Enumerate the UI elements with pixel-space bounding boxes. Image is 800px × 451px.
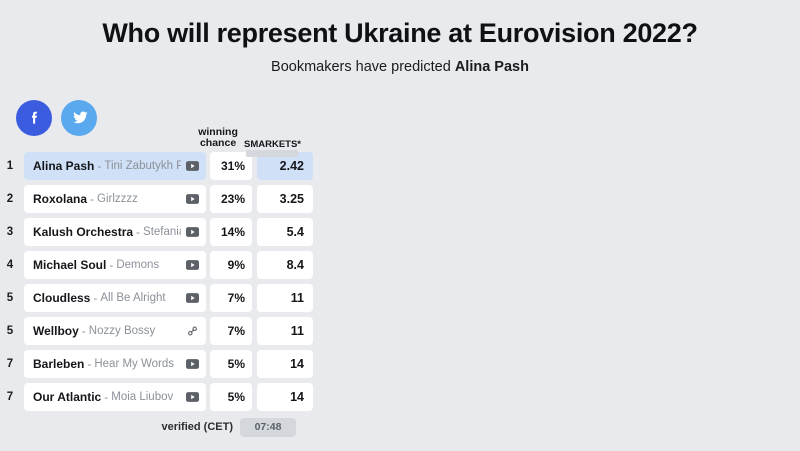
row-winning-chance: 14%	[210, 218, 252, 246]
row-separator: -	[136, 225, 140, 239]
row-song: Moia Liubov	[111, 391, 181, 403]
row-rank: 2	[2, 193, 18, 205]
row-separator: -	[93, 291, 97, 305]
row-entry-cell[interactable]: Michael Soul-Demons	[24, 251, 206, 279]
table-row[interactable]: 7Barleben-Hear My Words5%14	[0, 350, 300, 378]
row-rank: 3	[2, 226, 18, 238]
row-rank: 7	[2, 358, 18, 370]
row-separator: -	[90, 192, 94, 206]
row-winning-chance: 7%	[210, 317, 252, 345]
row-separator: -	[104, 390, 108, 404]
video-icon[interactable]	[186, 227, 199, 237]
row-smarkets-odds: 8.4	[257, 251, 313, 279]
row-song: Hear My Words	[94, 358, 181, 370]
page-header: Who will represent Ukraine at Eurovision…	[0, 0, 800, 75]
predictions-board: winning chance SMARKETS* 1Alina Pash-Tin…	[0, 116, 300, 438]
row-rank: 1	[2, 160, 18, 172]
video-icon[interactable]	[186, 359, 199, 369]
verified-label: verified (CET)	[161, 421, 233, 433]
row-winning-chance: 5%	[210, 350, 252, 378]
page-subtitle: Bookmakers have predicted Alina Pash	[0, 59, 800, 75]
row-rank: 4	[2, 259, 18, 271]
table-column-headers: winning chance SMARKETS*	[0, 116, 300, 152]
row-smarkets-odds: 11	[257, 284, 313, 312]
row-smarkets-odds: 3.25	[257, 185, 313, 213]
row-separator: -	[87, 357, 91, 371]
row-artist: Roxolana	[33, 192, 87, 206]
row-winning-chance: 7%	[210, 284, 252, 312]
table-row[interactable]: 5Cloudless-All Be Alright7%11	[0, 284, 300, 312]
row-artist: Cloudless	[33, 291, 90, 305]
table-row[interactable]: 2Roxolana-Girlzzzz23%3.25	[0, 185, 300, 213]
page-title: Who will represent Ukraine at Eurovision…	[0, 18, 800, 49]
row-smarkets-odds: 5.4	[257, 218, 313, 246]
video-icon[interactable]	[186, 260, 199, 270]
row-separator: -	[97, 159, 101, 173]
row-song: Tini Zabutykh Predkiv	[104, 160, 181, 172]
video-icon[interactable]	[186, 392, 199, 402]
row-smarkets-odds: 11	[257, 317, 313, 345]
row-song: Girlzzzz	[97, 193, 181, 205]
row-entry-cell[interactable]: Barleben-Hear My Words	[24, 350, 206, 378]
row-artist: Wellboy	[33, 324, 79, 338]
row-song: All Be Alright	[100, 292, 181, 304]
row-entry-cell[interactable]: Our Atlantic-Moia Liubov	[24, 383, 206, 411]
verified-time-badge: 07:48	[240, 418, 296, 437]
row-rank: 5	[2, 325, 18, 337]
chance-header-line2: chance	[198, 138, 238, 150]
row-entry-cell[interactable]: Kalush Orchestra-Stefania	[24, 218, 206, 246]
row-song: Demons	[116, 259, 181, 271]
table-row[interactable]: 4Michael Soul-Demons9%8.4	[0, 251, 300, 279]
smarkets-header-label: SMARKETS*	[244, 139, 301, 150]
video-icon[interactable]	[186, 293, 199, 303]
column-header-smarkets: SMARKETS*	[244, 139, 300, 152]
row-entry-cell[interactable]: Cloudless-All Be Alright	[24, 284, 206, 312]
table-footer: verified (CET) 07:48	[0, 416, 300, 438]
row-artist: Barleben	[33, 357, 84, 371]
row-song: Stefania	[143, 226, 181, 238]
row-separator: -	[82, 324, 86, 338]
subtitle-highlight: Alina Pash	[455, 59, 529, 75]
video-icon[interactable]	[186, 194, 199, 204]
column-header-winning-chance: winning chance	[198, 127, 238, 153]
row-artist: Alina Pash	[33, 159, 94, 173]
row-artist: Michael Soul	[33, 258, 106, 272]
row-smarkets-odds: 14	[257, 383, 313, 411]
row-rank: 7	[2, 391, 18, 403]
row-entry-cell[interactable]: Roxolana-Girlzzzz	[24, 185, 206, 213]
table-row[interactable]: 3Kalush Orchestra-Stefania14%5.4	[0, 218, 300, 246]
row-entry-cell[interactable]: Alina Pash-Tini Zabutykh Predkiv	[24, 152, 206, 180]
row-winning-chance: 23%	[210, 185, 252, 213]
row-separator: -	[109, 258, 113, 272]
video-icon[interactable]	[186, 161, 199, 171]
row-entry-cell[interactable]: Wellboy-Nozzy Bossy	[24, 317, 206, 345]
table-row[interactable]: 5Wellboy-Nozzy Bossy7%11	[0, 317, 300, 345]
smarkets-header-bar	[246, 150, 298, 157]
row-winning-chance: 5%	[210, 383, 252, 411]
table-row[interactable]: 7Our Atlantic-Moia Liubov5%14	[0, 383, 300, 411]
row-artist: Kalush Orchestra	[33, 225, 133, 239]
subtitle-prefix: Bookmakers have predicted	[271, 59, 455, 75]
link-icon[interactable]	[186, 325, 199, 337]
row-smarkets-odds: 14	[257, 350, 313, 378]
row-winning-chance: 9%	[210, 251, 252, 279]
row-song: Nozzy Bossy	[89, 325, 181, 337]
row-rank: 5	[2, 292, 18, 304]
row-artist: Our Atlantic	[33, 390, 101, 404]
table-rows: 1Alina Pash-Tini Zabutykh Predkiv31%2.42…	[0, 152, 300, 411]
